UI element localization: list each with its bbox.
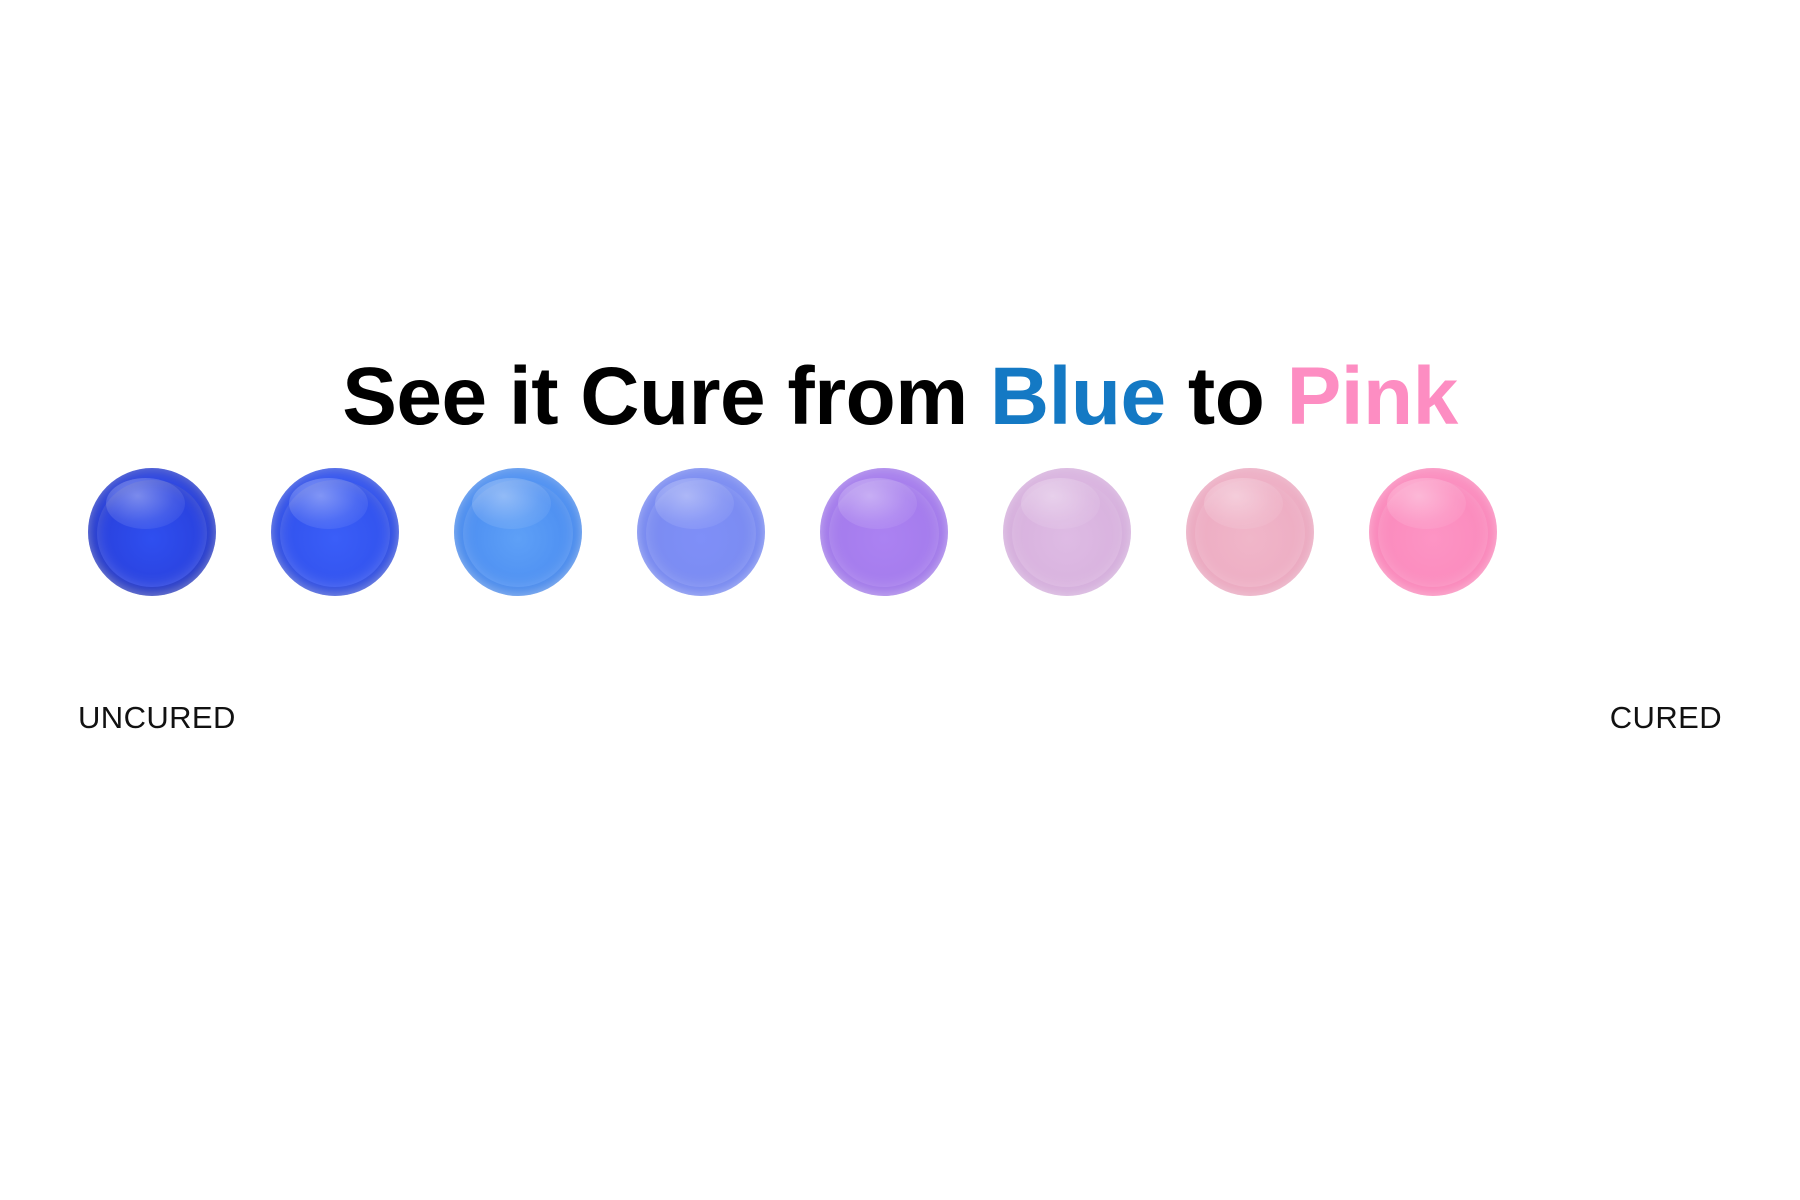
resin-drop-pool	[97, 480, 207, 588]
headline-word-pink: Pink	[1287, 351, 1458, 442]
resin-drop-7-pale-pink	[1186, 468, 1314, 596]
resin-drop-6-pale-lilac	[1003, 468, 1131, 596]
resin-drop-5-purple	[820, 468, 948, 596]
resin-drop-pool	[829, 480, 939, 588]
page-title: See it Cure from Blue to Pink	[0, 348, 1800, 446]
label-cured: CURED	[1610, 700, 1722, 736]
headline-segment-1: See it Cure from	[342, 351, 990, 442]
resin-drop-pool	[1195, 480, 1305, 588]
resin-drop-4-periwinkle	[637, 468, 765, 596]
cure-progression-swatch-row	[88, 468, 1712, 600]
headline-segment-3: to	[1166, 351, 1287, 442]
resin-drop-pool	[280, 480, 390, 588]
resin-drop-pool	[1378, 480, 1488, 588]
resin-drop-3-light-blue	[454, 468, 582, 596]
resin-drop-pool	[646, 480, 756, 588]
poster-canvas: See it Cure from Blue to Pink UNCURED CU…	[0, 0, 1800, 1200]
headline-word-blue: Blue	[990, 351, 1166, 442]
resin-drop-pool	[463, 480, 573, 588]
resin-drop-pool	[1012, 480, 1122, 588]
resin-drop-2-blue	[271, 468, 399, 596]
resin-drop-8-pink	[1369, 468, 1497, 596]
resin-drop-1-deep-blue	[88, 468, 216, 596]
label-uncured: UNCURED	[78, 700, 236, 736]
